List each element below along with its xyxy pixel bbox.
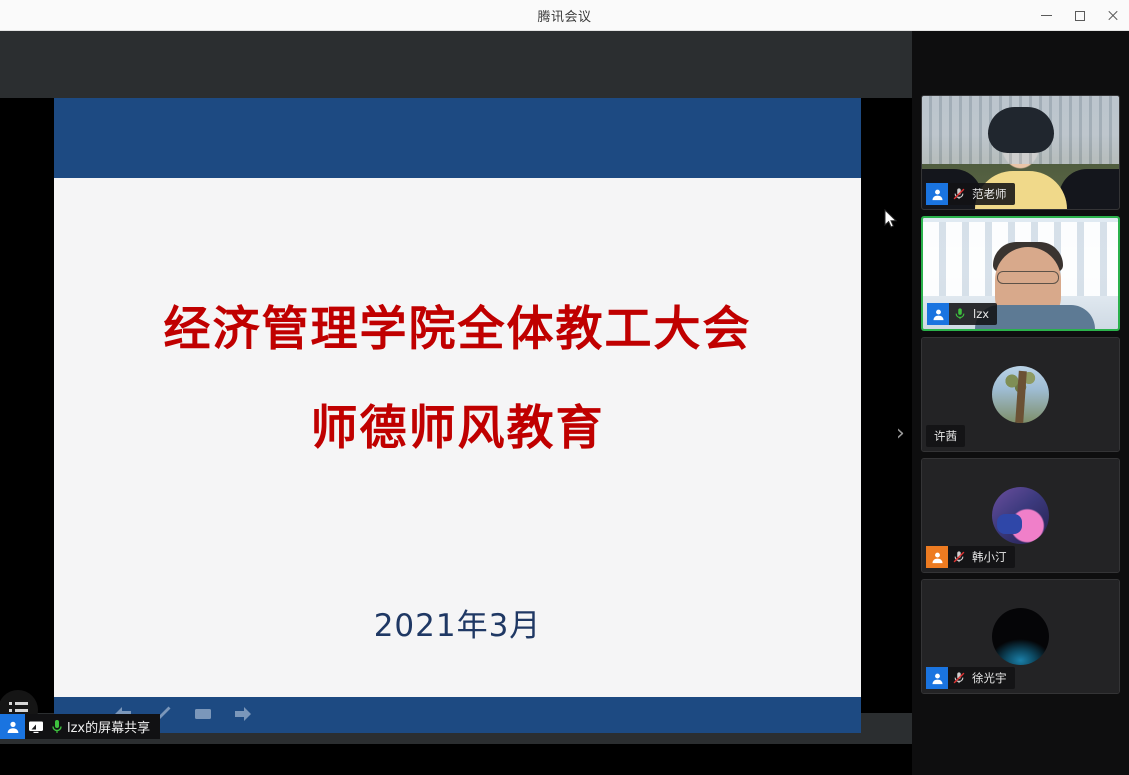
screen-icon xyxy=(193,706,213,722)
person-icon xyxy=(926,667,948,689)
participant-status-strip: lzx xyxy=(927,303,997,325)
close-icon xyxy=(1107,10,1119,22)
shared-slide[interactable]: 经济管理学院全体教工大会 师德师风教育 2021年3月 xyxy=(54,98,861,733)
mic-muted-icon xyxy=(948,667,970,689)
screen-share-status: lzx的屏幕共享 xyxy=(0,714,160,739)
minimize-icon xyxy=(1041,15,1052,16)
arrow-right-icon xyxy=(233,706,253,722)
window-title: 腾讯会议 xyxy=(537,6,591,25)
participant-status-strip: 韩小汀 xyxy=(926,546,1015,568)
person-icon xyxy=(927,303,949,325)
avatar xyxy=(992,366,1049,423)
maximize-icon xyxy=(1075,11,1085,21)
avatar xyxy=(992,487,1049,544)
slide-body: 经济管理学院全体教工大会 师德师风教育 2021年3月 xyxy=(54,178,861,697)
shared-screen-stage[interactable]: 经济管理学院全体教工大会 师德师风教育 2021年3月 xyxy=(0,31,912,744)
minimize-button[interactable] xyxy=(1030,0,1063,31)
window-controls xyxy=(1030,0,1129,31)
person-icon xyxy=(0,714,25,739)
screen-share-icon xyxy=(25,714,47,739)
participant-name: 范老师 xyxy=(970,186,1015,202)
mic-on-icon xyxy=(47,714,67,739)
participant-tile[interactable]: 许茜 xyxy=(921,337,1120,452)
participant-status-strip: 许茜 xyxy=(926,425,965,447)
tencent-meeting-window: 腾讯会议 经济管理学院全体教工大会 师德师风教育 2021年3月 xyxy=(0,0,1129,775)
participant-tile[interactable]: 徐光宇 xyxy=(921,579,1120,694)
screen-share-label: lzx的屏幕共享 xyxy=(67,717,160,736)
person-icon xyxy=(926,546,948,568)
mic-muted-icon xyxy=(948,183,970,205)
participant-tile[interactable]: lzx xyxy=(921,216,1120,331)
person-icon xyxy=(926,183,948,205)
participant-status-strip: 范老师 xyxy=(926,183,1015,205)
participant-name: 徐光宇 xyxy=(970,670,1015,686)
slide-date: 2021年3月 xyxy=(374,600,542,645)
slide-top-band xyxy=(54,98,861,178)
slide-view-button[interactable] xyxy=(192,703,214,725)
next-panel-chevron-icon[interactable]: › xyxy=(896,421,912,447)
participant-name: lzx xyxy=(971,307,997,321)
avatar xyxy=(992,608,1049,665)
close-button[interactable] xyxy=(1096,0,1129,31)
mic-on-icon xyxy=(949,303,971,325)
participant-name: 韩小汀 xyxy=(970,549,1015,565)
next-slide-button[interactable] xyxy=(232,703,254,725)
mouse-cursor xyxy=(884,209,898,229)
slide-title-line-2: 师德师风教育 xyxy=(311,405,605,452)
participant-name: 许茜 xyxy=(926,428,965,444)
participant-rail[interactable]: 范老师 xyxy=(912,31,1129,775)
slide-title-line-1: 经济管理学院全体教工大会 xyxy=(164,306,752,353)
maximize-button[interactable] xyxy=(1063,0,1096,31)
stage-top-letterbox xyxy=(0,31,912,98)
participant-tile[interactable]: 范老师 xyxy=(921,95,1120,210)
participant-status-strip: 徐光宇 xyxy=(926,667,1015,689)
participant-tile[interactable]: 韩小汀 xyxy=(921,458,1120,573)
mic-muted-icon xyxy=(948,546,970,568)
title-bar: 腾讯会议 xyxy=(0,0,1129,31)
